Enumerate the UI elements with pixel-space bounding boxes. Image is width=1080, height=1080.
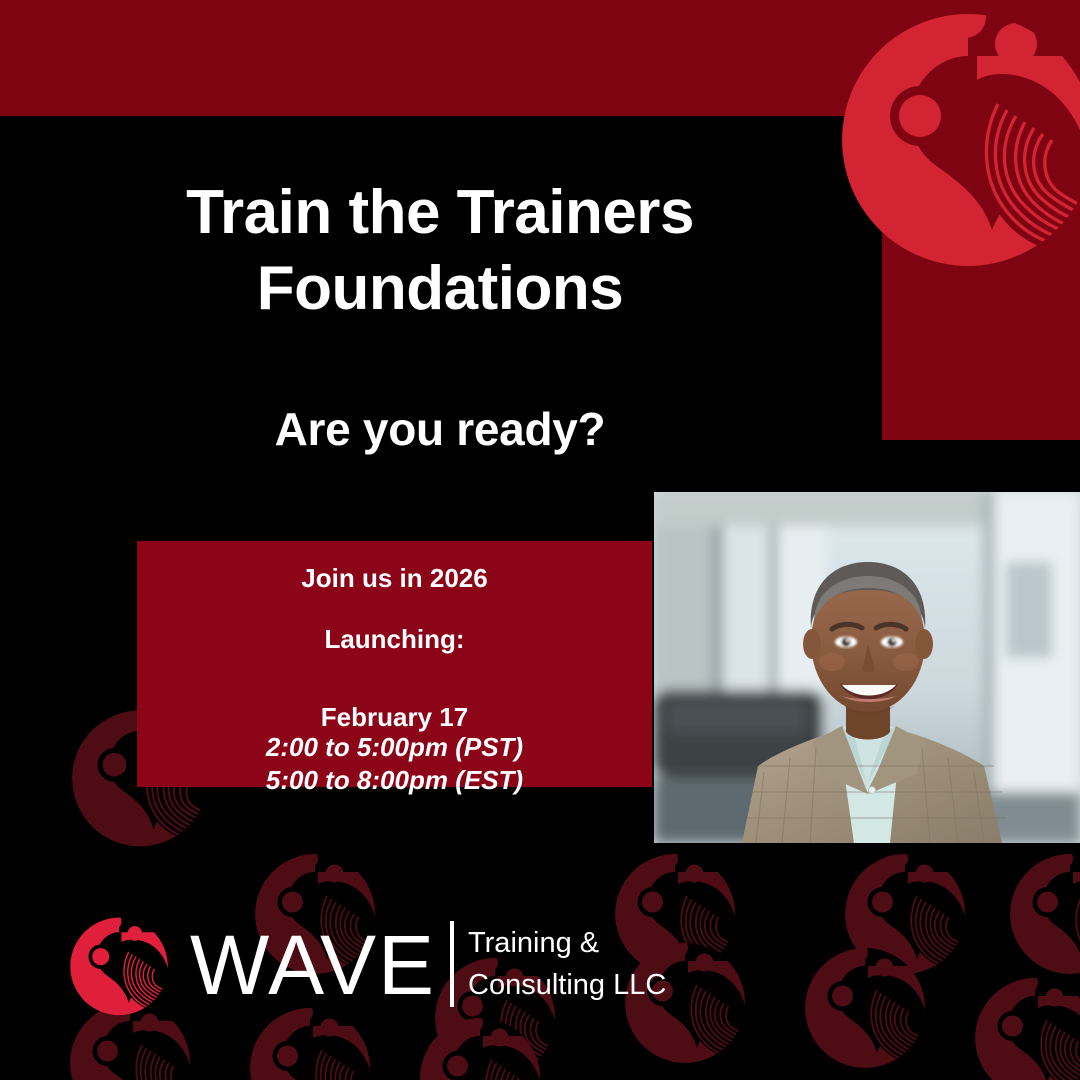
event-time-est: 5:00 to 8:00pm (EST) bbox=[137, 764, 652, 797]
watermark-wave-mark-icon bbox=[995, 836, 1080, 986]
headline-line-1: Train the Trainers bbox=[0, 175, 880, 251]
wave-circular-wave-mark-icon bbox=[58, 903, 180, 1025]
page-title: Train the Trainers Foundations bbox=[0, 175, 880, 326]
headline-line-2: Foundations bbox=[0, 251, 880, 327]
subheadline: Are you ready? bbox=[0, 402, 880, 456]
event-time-pst: 2:00 to 5:00pm (PST) bbox=[137, 731, 652, 764]
launching-label: Launching: bbox=[137, 626, 652, 653]
event-date: February 17 bbox=[137, 704, 652, 731]
presenter-portrait-photo bbox=[654, 492, 1080, 843]
event-details-panel: Join us in 2026 Launching: February 17 2… bbox=[137, 541, 652, 787]
watermark-wave-mark-icon bbox=[790, 930, 940, 1080]
logo-tagline-line-1: Training & bbox=[468, 922, 666, 964]
watermark-wave-mark-icon bbox=[960, 960, 1080, 1080]
logo-tagline: Training & Consulting LLC bbox=[468, 922, 666, 1006]
watermark-wave-mark-icon bbox=[830, 836, 980, 986]
logo-tagline-line-2: Consulting LLC bbox=[468, 964, 666, 1006]
logo-wordmark: WAVE bbox=[190, 923, 436, 1007]
join-us-text: Join us in 2026 bbox=[137, 565, 652, 592]
logo-divider bbox=[450, 921, 454, 1007]
promotional-poster: Train the Trainers Foundations Are you r… bbox=[0, 0, 1080, 1080]
brand-logo-lockup: WAVE Training & Consulting LLC bbox=[58, 903, 666, 1025]
